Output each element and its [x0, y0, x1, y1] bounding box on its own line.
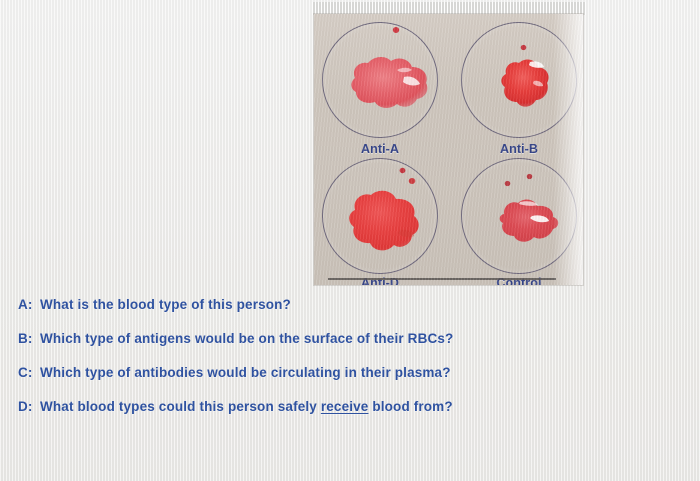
card-printed-rule — [328, 278, 556, 280]
question-list: A: What is the blood type of this person… — [0, 297, 700, 433]
blood-speck-control-1 — [504, 180, 511, 187]
question-c-label: C: — [18, 365, 40, 380]
question-d-emphasis: receive — [321, 399, 369, 414]
question-c-text: Which type of antibodies would be circul… — [40, 365, 451, 380]
question-c: C: Which type of antibodies would be cir… — [0, 365, 700, 399]
well-label-anti-b: Anti-B — [461, 142, 577, 156]
blood-drop-anti-a — [341, 52, 433, 114]
blood-speck-control-2 — [526, 173, 533, 180]
question-d: D: What blood types could this person sa… — [0, 399, 700, 433]
blood-typing-photo: Anti-A — [312, 2, 586, 290]
blood-drop-control — [492, 192, 562, 252]
question-b-label: B: — [18, 331, 40, 346]
well-label-anti-a: Anti-A — [322, 142, 438, 156]
blood-speck-anti-d-2 — [408, 177, 416, 185]
question-b: B: Which type of antigens would be on th… — [0, 331, 700, 365]
blood-speck-anti-a — [392, 26, 400, 34]
question-a-text: What is the blood type of this person? — [40, 297, 291, 312]
question-d-label: D: — [18, 399, 40, 414]
worksheet-page: Anti-A — [0, 0, 700, 481]
question-a-label: A: — [18, 297, 40, 312]
question-d-text: What blood types could this person safel… — [40, 399, 453, 414]
blood-drop-anti-b — [496, 54, 552, 114]
blood-typing-card: Anti-A — [314, 14, 583, 285]
question-a: A: What is the blood type of this person… — [0, 297, 700, 331]
blood-speck-anti-b — [520, 44, 527, 51]
question-b-text: Which type of antigens would be on the s… — [40, 331, 453, 346]
blood-drop-anti-d — [342, 186, 424, 258]
blood-speck-anti-d-1 — [399, 167, 406, 174]
